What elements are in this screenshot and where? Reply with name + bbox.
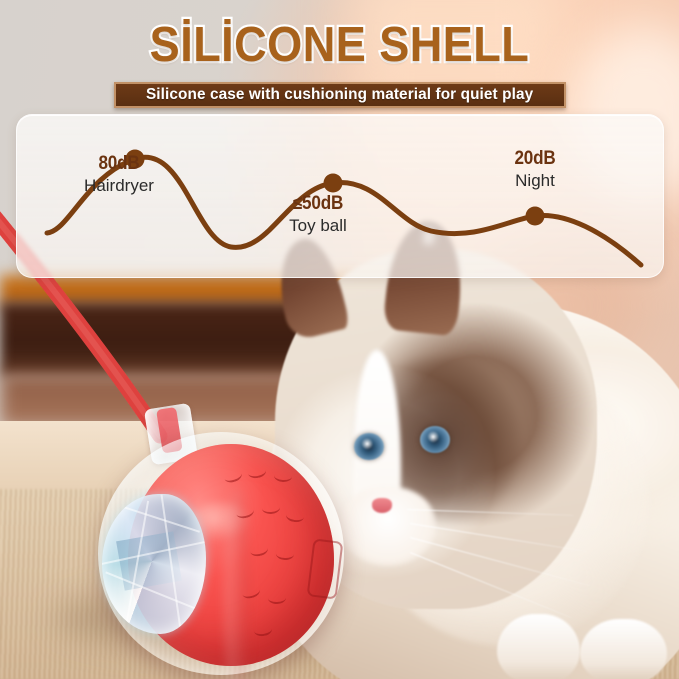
crystal-facet <box>108 501 200 533</box>
chart-value-toyball: ≤50dB <box>261 193 374 215</box>
cat-paw-back <box>580 619 667 679</box>
ball-texture-scale <box>276 548 294 561</box>
ball-texture-scale <box>223 468 244 485</box>
subtitle-bar: Silicone case with cushioning material f… <box>114 82 566 108</box>
page-title: SİLİCONE SHELL <box>27 18 652 72</box>
product-banner: SİLİCONE SHELL Silicone case with cushio… <box>0 0 679 679</box>
ball-texture-scale <box>262 501 281 514</box>
subtitle-text: Silicone case with cushioning material f… <box>146 86 533 104</box>
noise-comparison-panel: 80dB Hairdryer ≤50dB Toy ball 20dB Night <box>16 114 664 278</box>
chart-name-toyball: Toy ball <box>255 216 381 236</box>
cat-paw-front <box>497 614 580 679</box>
ball-texture-scale <box>285 509 304 523</box>
chart-label-toyball: ≤50dB Toy ball <box>255 193 381 236</box>
ball-texture-scale <box>253 623 272 637</box>
chart-value-night: 20dB <box>485 148 586 170</box>
chart-label-hairdryer: 80dB Hairdryer <box>59 153 179 196</box>
chart-value-hairdryer: 80dB <box>65 153 173 175</box>
marker-dot-toyball <box>324 174 343 193</box>
cat-eye-right <box>420 426 450 453</box>
ball-texture-scale <box>274 469 293 482</box>
toy-ball <box>92 402 362 679</box>
chart-name-hairdryer: Hairdryer <box>59 176 179 196</box>
ball-texture-scale <box>268 592 286 605</box>
chart-label-night: 20dB Night <box>479 148 591 191</box>
ball-texture-scale <box>249 542 269 557</box>
cat-whisker <box>410 523 588 553</box>
ball-texture-scale <box>247 465 267 480</box>
chart-name-night: Night <box>479 171 591 191</box>
marker-dot-night <box>526 207 545 226</box>
